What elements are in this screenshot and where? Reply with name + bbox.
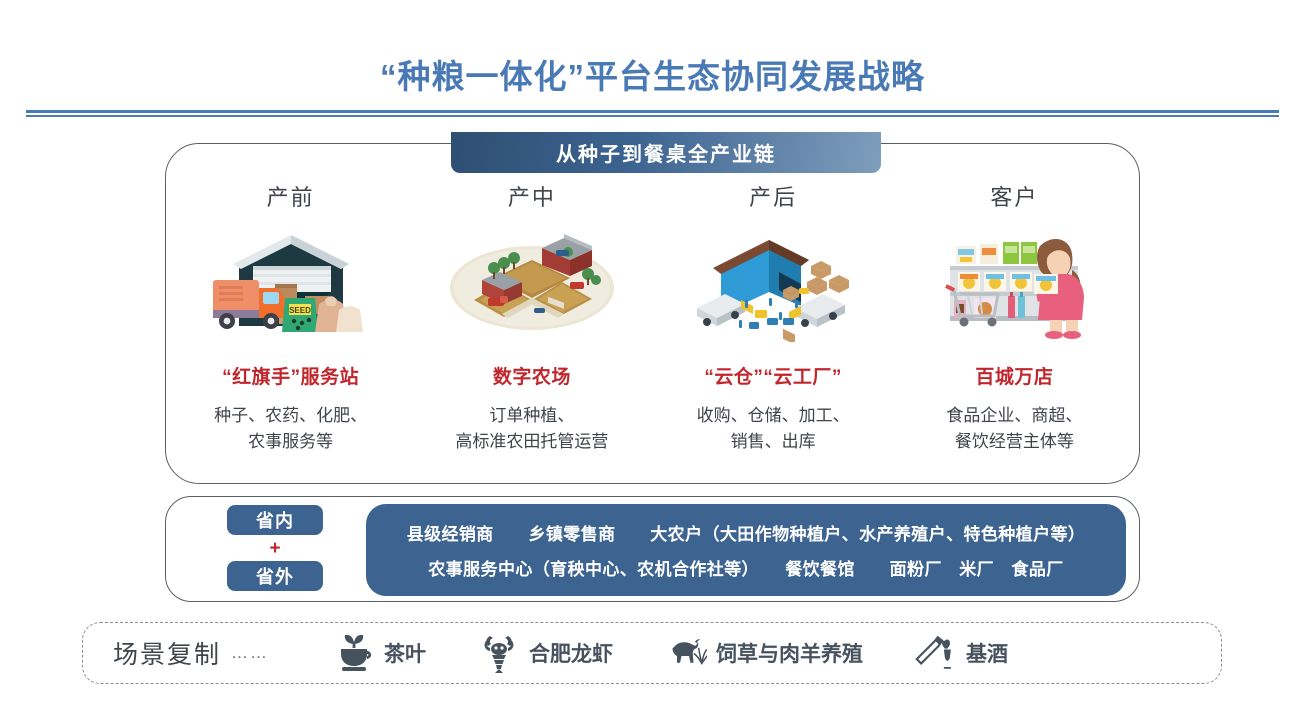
warehouse-truck-seed-icon: SEED: [201, 222, 381, 342]
desc-line-1: 收购、仓储、加工、: [697, 403, 850, 429]
chain-description: 种子、农药、化肥、 农事服务等: [214, 403, 367, 456]
page-title: “种粮一体化”平台生态协同发展战略: [0, 50, 1305, 98]
partner-line-1: 县级经销商 乡镇零售商 大农户（大田作物种植户、水产养殖户、特色种植户等）: [407, 520, 1086, 545]
scenario-item-lobster[interactable]: 合肥龙虾: [478, 633, 613, 673]
coverage-pills: 省内 + 省外: [225, 505, 325, 591]
desc-line-2: 农事服务等: [214, 429, 367, 455]
isometric-logistics-warehouse-icon: [683, 222, 863, 342]
bottle-glass-icon: [915, 633, 957, 673]
chain-column-customer[interactable]: 客户: [894, 180, 1135, 480]
desc-line-2: 餐饮经营主体等: [946, 429, 1082, 455]
chain-heading: “红旗手”服务站: [222, 362, 359, 389]
pill-out-of-province[interactable]: 省外: [227, 561, 323, 591]
desc-line-2: 销售、出库: [697, 429, 850, 455]
chain-column-pre-production[interactable]: 产前: [170, 180, 411, 480]
pill-in-province[interactable]: 省内: [227, 505, 323, 535]
desc-line-1: 订单种植、: [455, 403, 608, 429]
title-divider: [26, 110, 1279, 117]
stage-label: 产前: [267, 180, 315, 212]
stage-label: 产中: [508, 180, 556, 212]
chain-heading: “云仓”“云工厂”: [704, 362, 842, 389]
chain-description: 收购、仓储、加工、 销售、出库: [697, 403, 850, 456]
slide-canvas: “种粮一体化”平台生态协同发展战略 从种子到餐桌全产业链 产前: [0, 0, 1305, 701]
chain-column-in-production[interactable]: 产中: [411, 180, 652, 480]
plus-icon: +: [269, 539, 280, 558]
isometric-farm-icon: [442, 222, 622, 342]
scenario-item-tea[interactable]: 茶叶: [333, 633, 426, 673]
desc-line-1: 种子、农药、化肥、: [214, 403, 367, 429]
partner-line-2: 农事服务中心（育秧中心、农机合作社等） 餐饮餐馆 面粉厂 米厂 食品厂: [428, 555, 1063, 580]
scenario-item-label: 饲草与肉羊养殖: [716, 638, 863, 668]
supermarket-shopper-icon: [924, 222, 1104, 342]
chain-heading: 数字农场: [493, 362, 571, 389]
scenario-item-base-liquor[interactable]: 基酒: [915, 633, 1008, 673]
value-chain-columns: 产前: [170, 180, 1135, 480]
chain-heading: 百城万店: [975, 362, 1053, 389]
value-chain-banner: 从种子到餐桌全产业链: [451, 132, 881, 173]
scenario-ellipsis: ……: [231, 643, 269, 663]
scenario-item-label: 合肥龙虾: [529, 638, 613, 668]
desc-line-1: 食品企业、商超、: [946, 403, 1082, 429]
desc-line-2: 高标准农田托管运营: [455, 429, 608, 455]
scenario-item-forage-mutton[interactable]: 饲草与肉羊养殖: [665, 633, 863, 673]
scenario-item-label: 茶叶: [384, 638, 426, 668]
lobster-icon: [478, 633, 520, 673]
scenario-replication-strip: 场景复制 …… 茶叶: [82, 622, 1222, 684]
scenario-items: 茶叶 合肥龙虾: [333, 633, 1008, 673]
chain-description: 订单种植、 高标准农田托管运营: [455, 403, 608, 456]
goat-grass-icon: [665, 633, 707, 673]
stage-label: 客户: [990, 180, 1038, 212]
scenario-item-label: 基酒: [966, 638, 1008, 668]
scenario-label: 场景复制: [113, 635, 221, 671]
tea-cup-icon: [333, 633, 375, 673]
stage-label: 产后: [749, 180, 797, 212]
chain-column-post-production[interactable]: 产后: [653, 180, 894, 480]
svg-text:SEED: SEED: [289, 306, 311, 315]
divider-line-thin: [26, 115, 1279, 117]
chain-description: 食品企业、商超、 餐饮经营主体等: [946, 403, 1082, 456]
partner-types-panel: 县级经销商 乡镇零售商 大农户（大田作物种植户、水产养殖户、特色种植户等） 农事…: [366, 504, 1126, 596]
